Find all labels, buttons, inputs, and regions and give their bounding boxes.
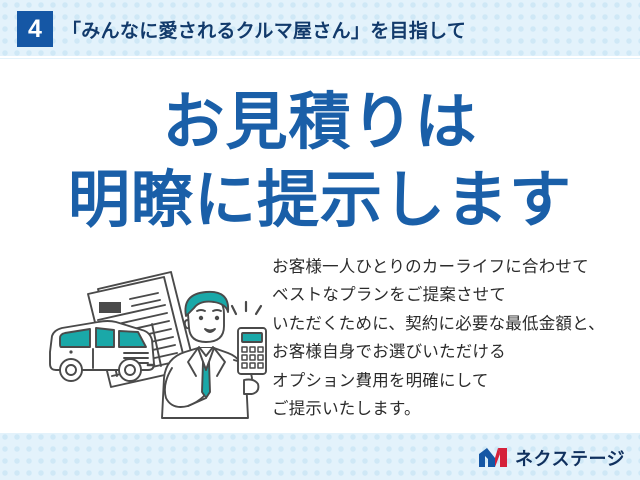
necktie	[202, 362, 210, 398]
body-copy: お客様一人ひとりのカーライフに合わせて ベストなプランをご提案させて いただくた…	[272, 253, 632, 423]
van-illustration	[50, 321, 154, 381]
nextage-logo-text: ネクステージ	[515, 445, 625, 471]
header-divider	[0, 56, 640, 58]
body-copy-line: お客様自身でお選びいただける	[272, 338, 632, 366]
calculator-display	[242, 333, 262, 342]
document-title-block	[99, 302, 121, 313]
body-copy-line: ベストなプランをご提案させて	[272, 281, 632, 309]
body-copy-line: お客様一人ひとりのカーライフに合わせて	[272, 253, 632, 281]
header-title: 「みんなに愛されるクルマ屋さん」を目指して	[62, 16, 466, 43]
body-copy-line: オプション費用を明確にして	[272, 367, 632, 395]
section-number-badge: 4	[17, 11, 53, 47]
body-copy-line: ご提示いたします。	[272, 395, 632, 423]
section-number-label: 4	[28, 17, 42, 42]
body-copy-line: いただくために、契約に必要な最低金額と、	[272, 310, 632, 338]
calculator	[238, 328, 266, 374]
headline-line-2: 明瞭に提示します	[0, 170, 640, 232]
sparkle-marks	[232, 302, 261, 314]
headline-line-1: お見積りは	[0, 92, 640, 154]
illustration-svg	[38, 252, 270, 420]
nextage-logo: ネクステージ	[478, 445, 625, 471]
header-bar: 4 「みんなに愛されるクルマ屋さん」を目指して	[0, 0, 640, 57]
salesman-illustration	[38, 252, 270, 420]
nextage-n-mark-icon	[478, 447, 508, 469]
page-background: 4 「みんなに愛されるクルマ屋さん」を目指して お見積りは 明瞭に提示します お…	[0, 0, 640, 480]
